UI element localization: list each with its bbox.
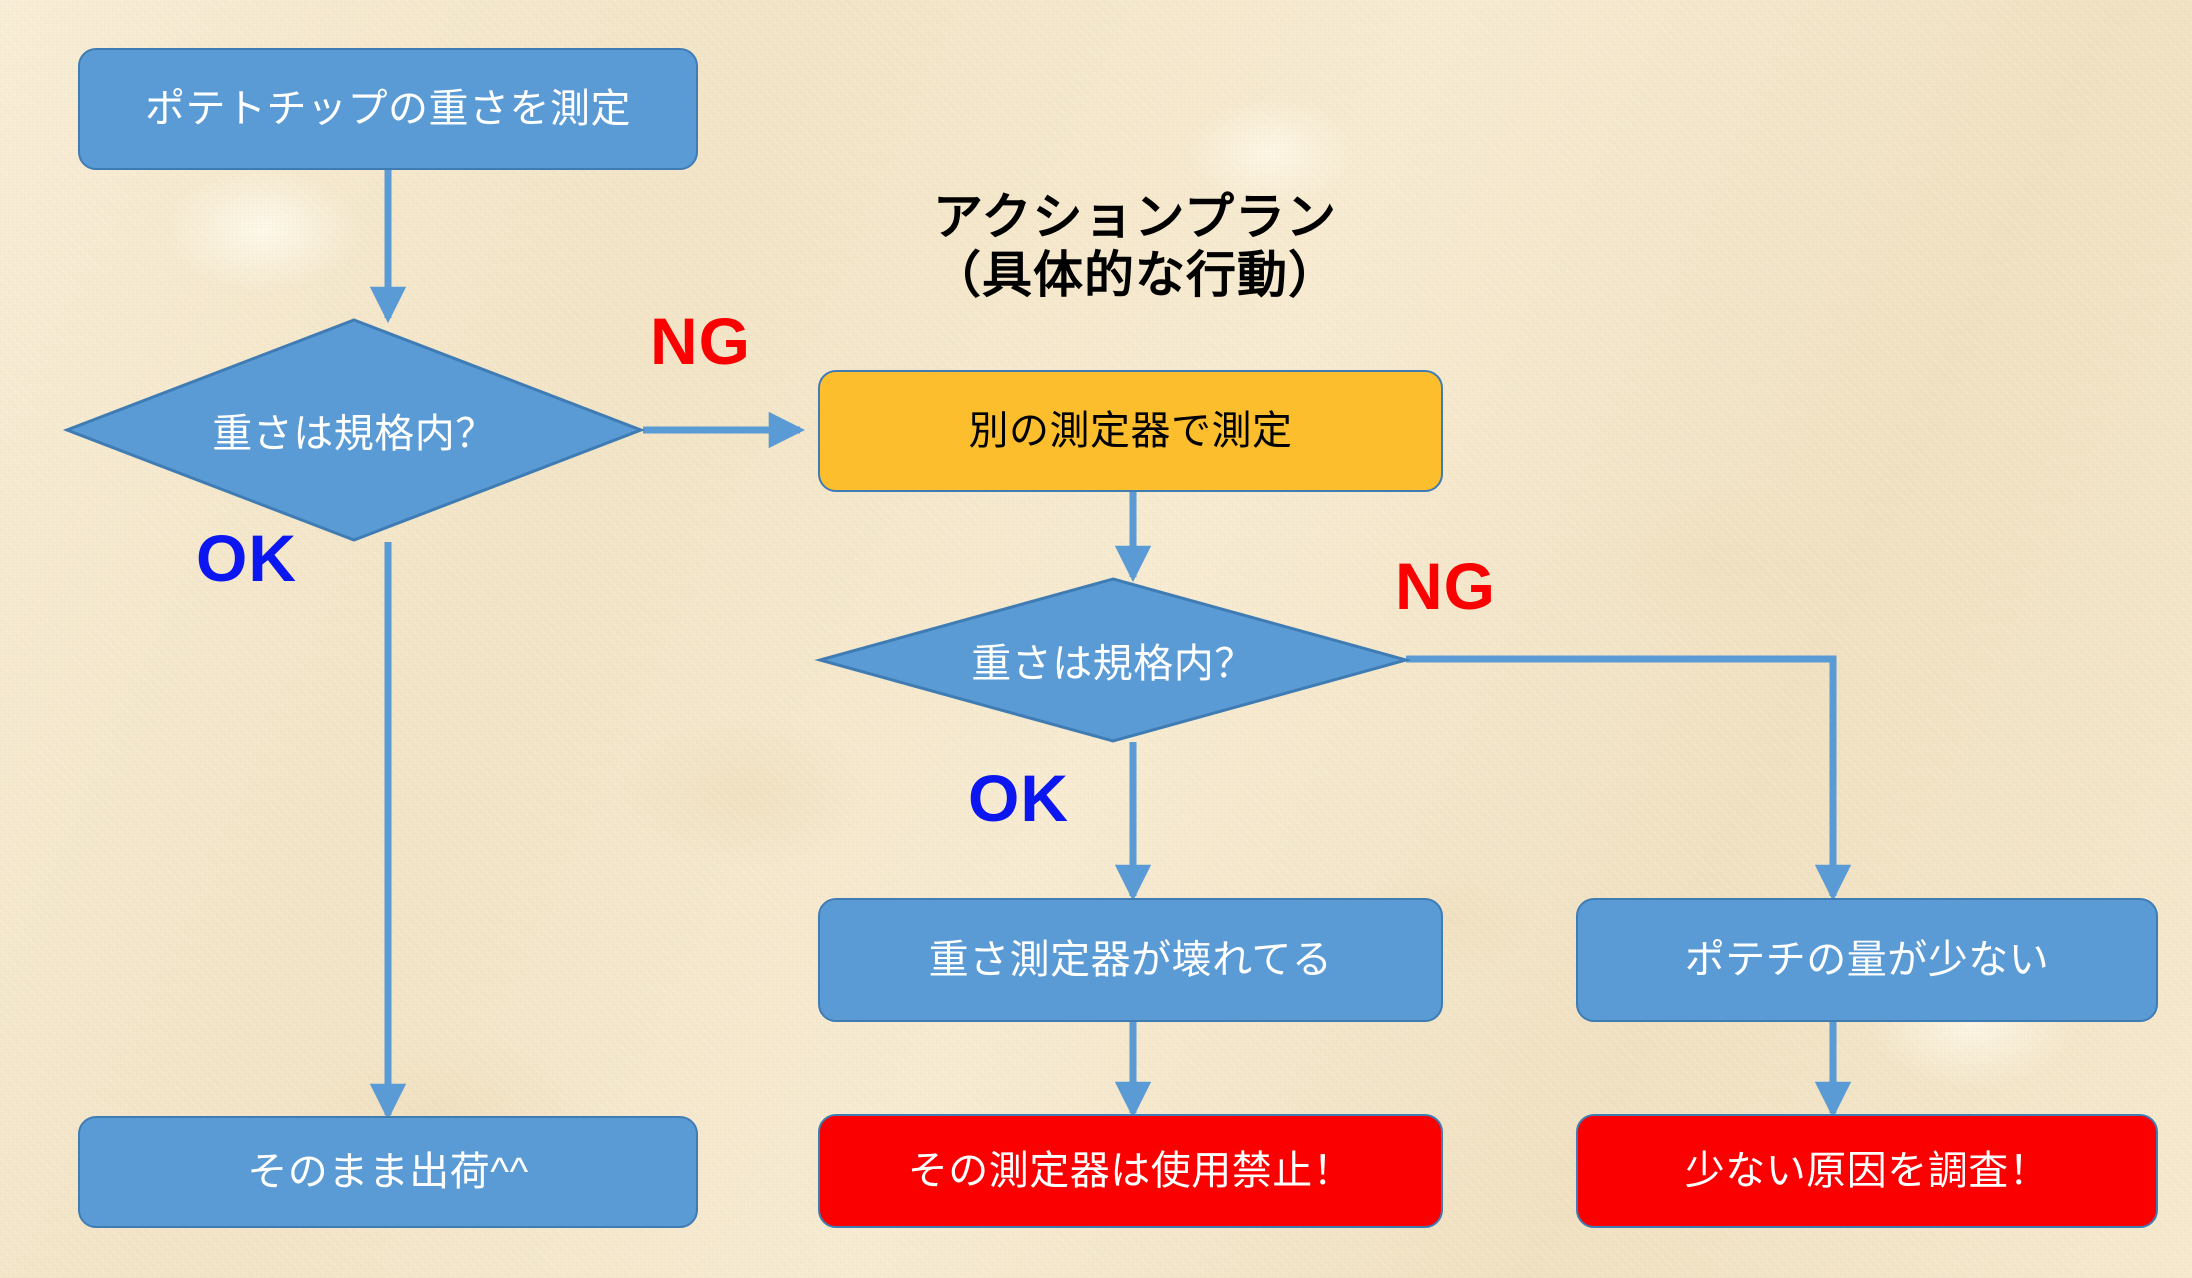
node-remeasure[interactable]: 別の測定器で測定: [818, 370, 1443, 492]
node-low-amount-label: ポテチの量が少ない: [1685, 938, 2050, 982]
node-ship-label: そのまま出荷^^: [247, 1150, 529, 1194]
edge-label-ok-1: OK: [196, 525, 297, 591]
node-low-amount[interactable]: ポテチの量が少ない: [1576, 898, 2158, 1022]
node-investigate-label: 少ない原因を調査！: [1685, 1149, 2050, 1193]
flowchart-canvas: アクションプラン （具体的な行動） ポテトチップの重さを測定 重さは規格内？ N…: [0, 0, 2192, 1278]
diamond-shape-1: [65, 318, 643, 542]
diagram-title: アクションプラン （具体的な行動）: [780, 188, 1490, 304]
node-broken-scale[interactable]: 重さ測定器が壊れてる: [818, 898, 1443, 1022]
node-decision2[interactable]: 重さは規格内？: [818, 577, 1408, 743]
edge-label-ok-2: OK: [968, 765, 1069, 831]
node-remeasure-label: 別の測定器で測定: [969, 409, 1293, 453]
node-decision1[interactable]: 重さは規格内？: [65, 318, 643, 542]
node-ban-scale[interactable]: その測定器は使用禁止！: [818, 1114, 1443, 1228]
node-ban-scale-label: その測定器は使用禁止！: [908, 1149, 1354, 1193]
edge-label-ng-2: NG: [1395, 553, 1496, 619]
node-broken-scale-label: 重さ測定器が壊れてる: [929, 938, 1333, 982]
node-start[interactable]: ポテトチップの重さを測定: [78, 48, 698, 170]
node-start-label: ポテトチップの重さを測定: [145, 87, 631, 131]
diamond-shape-2: [818, 577, 1408, 743]
edge-label-ng-1: NG: [650, 308, 751, 374]
node-investigate[interactable]: 少ない原因を調査！: [1576, 1114, 2158, 1228]
connector-decision2-to-low-amount: [1406, 659, 1833, 896]
node-ship[interactable]: そのまま出荷^^: [78, 1116, 698, 1228]
